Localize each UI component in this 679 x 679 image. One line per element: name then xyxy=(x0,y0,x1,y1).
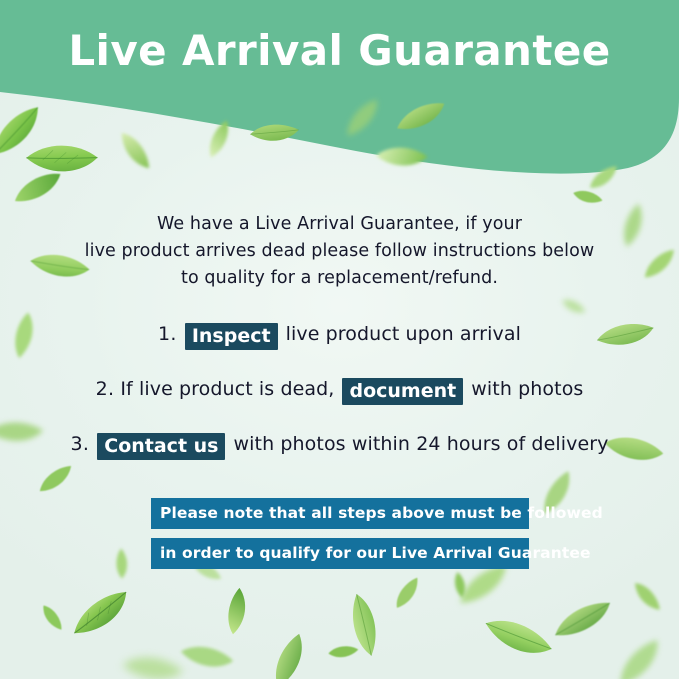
step-3-text-after: with photos within 24 hours of delivery xyxy=(234,433,609,455)
step-1-number: 1. xyxy=(158,323,177,345)
step-3-highlight-contact-us[interactable]: Contact us xyxy=(97,433,225,460)
step-item-2: 2. If live product is dead, document wit… xyxy=(30,375,649,403)
step-item-1: 1. Inspect live product upon arrival xyxy=(30,320,649,348)
notice-line-2: in order to qualify for our Live Arrival… xyxy=(151,538,529,569)
step-1-text-after: live product upon arrival xyxy=(286,323,521,345)
notice-line-1: Please note that all steps above must be… xyxy=(151,498,529,529)
intro-line-2: live product arrives dead please follow … xyxy=(55,238,624,265)
live-arrival-guarantee-poster: Live Arrival Guarantee We have a Live Ar… xyxy=(0,0,679,679)
steps-list: 1. Inspect live product upon arrival 2. … xyxy=(30,320,649,458)
step-2-text-before: If live product is dead, xyxy=(120,378,334,400)
step-1-highlight-inspect[interactable]: Inspect xyxy=(185,323,278,350)
step-2-highlight-document[interactable]: document xyxy=(342,378,463,405)
step-2-number: 2. xyxy=(96,378,115,400)
step-2-text-after: with photos xyxy=(471,378,583,400)
intro-line-3: to quality for a replacement/refund. xyxy=(55,265,624,292)
step-3-number: 3. xyxy=(70,433,89,455)
content-area: We have a Live Arrival Guarantee, if you… xyxy=(0,0,679,679)
notice-block: Please note that all steps above must be… xyxy=(151,498,529,569)
intro-paragraph: We have a Live Arrival Guarantee, if you… xyxy=(55,211,624,292)
step-item-3: 3. Contact us with photos within 24 hour… xyxy=(30,430,649,458)
intro-line-1: We have a Live Arrival Guarantee, if you… xyxy=(55,211,624,238)
